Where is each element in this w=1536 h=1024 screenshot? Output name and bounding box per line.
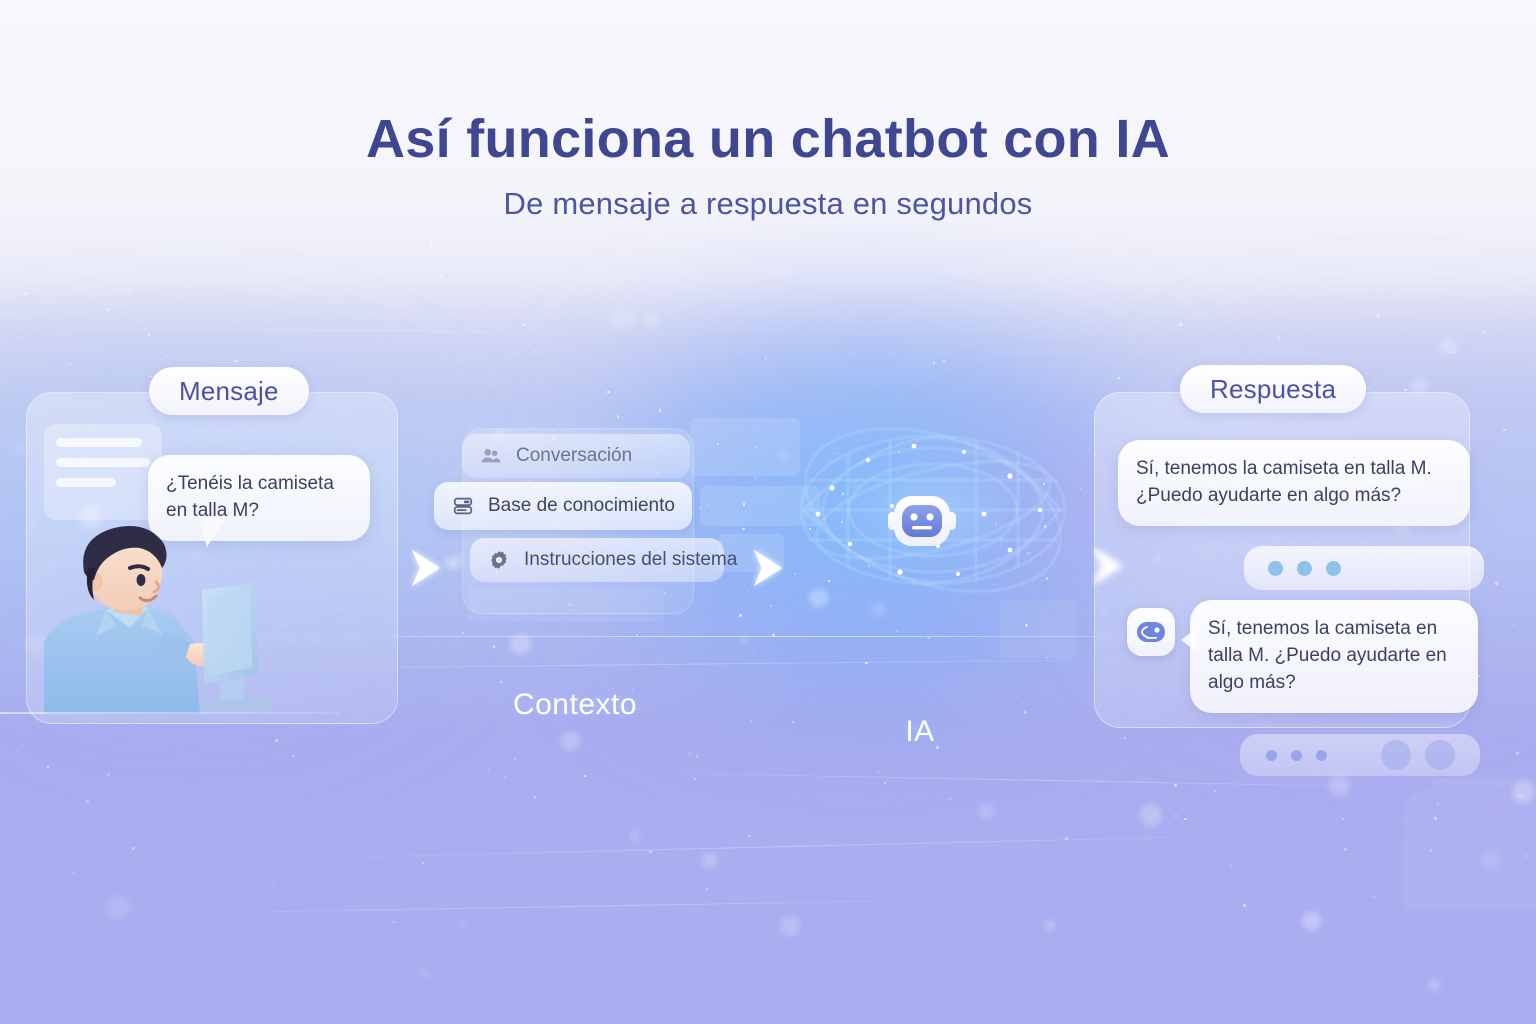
arrow-message-to-context (400, 540, 456, 596)
typing-dot (1381, 740, 1411, 770)
typing-indicator-top (1244, 546, 1484, 590)
desk-line (0, 712, 340, 714)
context-item-instrucciones[interactable]: Instrucciones del sistema (470, 538, 724, 582)
context-item-base-conocimiento-label: Base de conocimiento (488, 495, 675, 517)
context-item-conversacion[interactable]: Conversación (462, 434, 690, 478)
typing-indicator-bottom (1240, 734, 1480, 776)
typing-dot (1425, 740, 1455, 770)
page-subtitle: De mensaje a respuesta en segundos (0, 186, 1536, 222)
context-item-instrucciones-label: Instrucciones del sistema (524, 549, 737, 571)
message-line-1: ¿Tenéis la camiseta (166, 471, 352, 498)
infographic-canvas: Así funciona un chatbot con IA De mensaj… (0, 0, 1536, 1024)
badge-mensaje: Mensaje (149, 367, 309, 415)
light-streak (0, 327, 700, 334)
context-item-base-conocimiento[interactable]: Base de conocimiento (434, 482, 692, 530)
answer-reply-bubble-tail (1181, 628, 1197, 652)
arrow-context-to-ai (742, 540, 798, 596)
badge-respuesta: Respuesta (1180, 365, 1366, 413)
page-title: Así funciona un chatbot con IA (0, 108, 1536, 170)
typing-dot (1266, 750, 1277, 761)
light-streak (240, 833, 1340, 861)
robot-head-icon (884, 490, 960, 552)
light-streak (120, 898, 1020, 915)
answer-bubble[interactable]: Sí, tenemos la camiseta en talla M. ¿Pue… (1118, 440, 1470, 526)
person-at-tablet-illustration (44, 524, 304, 714)
chatbot-avatar-icon (1127, 608, 1175, 656)
typing-dot (1316, 750, 1327, 761)
answer-reply-line-1: Sí, tenemos la camiseta en (1208, 616, 1460, 643)
context-item-conversacion-label: Conversación (516, 445, 632, 467)
background-card-ghost (1430, 778, 1536, 788)
context-stage-label: Contexto (495, 688, 655, 722)
ai-stage-label: IA (840, 715, 1000, 749)
header: Así funciona un chatbot con IA De mensaj… (0, 0, 1536, 222)
gear-icon (488, 549, 510, 571)
typing-dot (1326, 561, 1341, 576)
background-card-ghost (690, 418, 800, 476)
background-card-ghost (1404, 790, 1536, 910)
badge-respuesta-label: Respuesta (1210, 374, 1336, 405)
answer-reply-bubble[interactable]: Sí, tenemos la camiseta en talla M. ¿Pue… (1190, 600, 1478, 713)
background-card-ghost (1000, 600, 1076, 658)
answer-line-1: Sí, tenemos la camiseta en talla M. (1136, 456, 1452, 483)
typing-dot (1291, 750, 1302, 761)
answer-reply-line-2: talla M. ¿Puedo ayudarte en (1208, 643, 1460, 670)
people-icon (480, 445, 502, 467)
typing-dot (1297, 561, 1312, 576)
answer-reply-line-3: algo más? (1208, 670, 1460, 697)
badge-mensaje-label: Mensaje (179, 376, 279, 407)
answer-line-2: ¿Puedo ayudarte en algo más? (1136, 483, 1452, 510)
database-icon (452, 495, 474, 517)
background-card-ghost (700, 486, 820, 526)
message-placeholder-card (44, 424, 162, 520)
message-line-2: en talla M? (166, 498, 352, 525)
avatar-glyph (1136, 621, 1166, 643)
typing-dot (1268, 561, 1283, 576)
